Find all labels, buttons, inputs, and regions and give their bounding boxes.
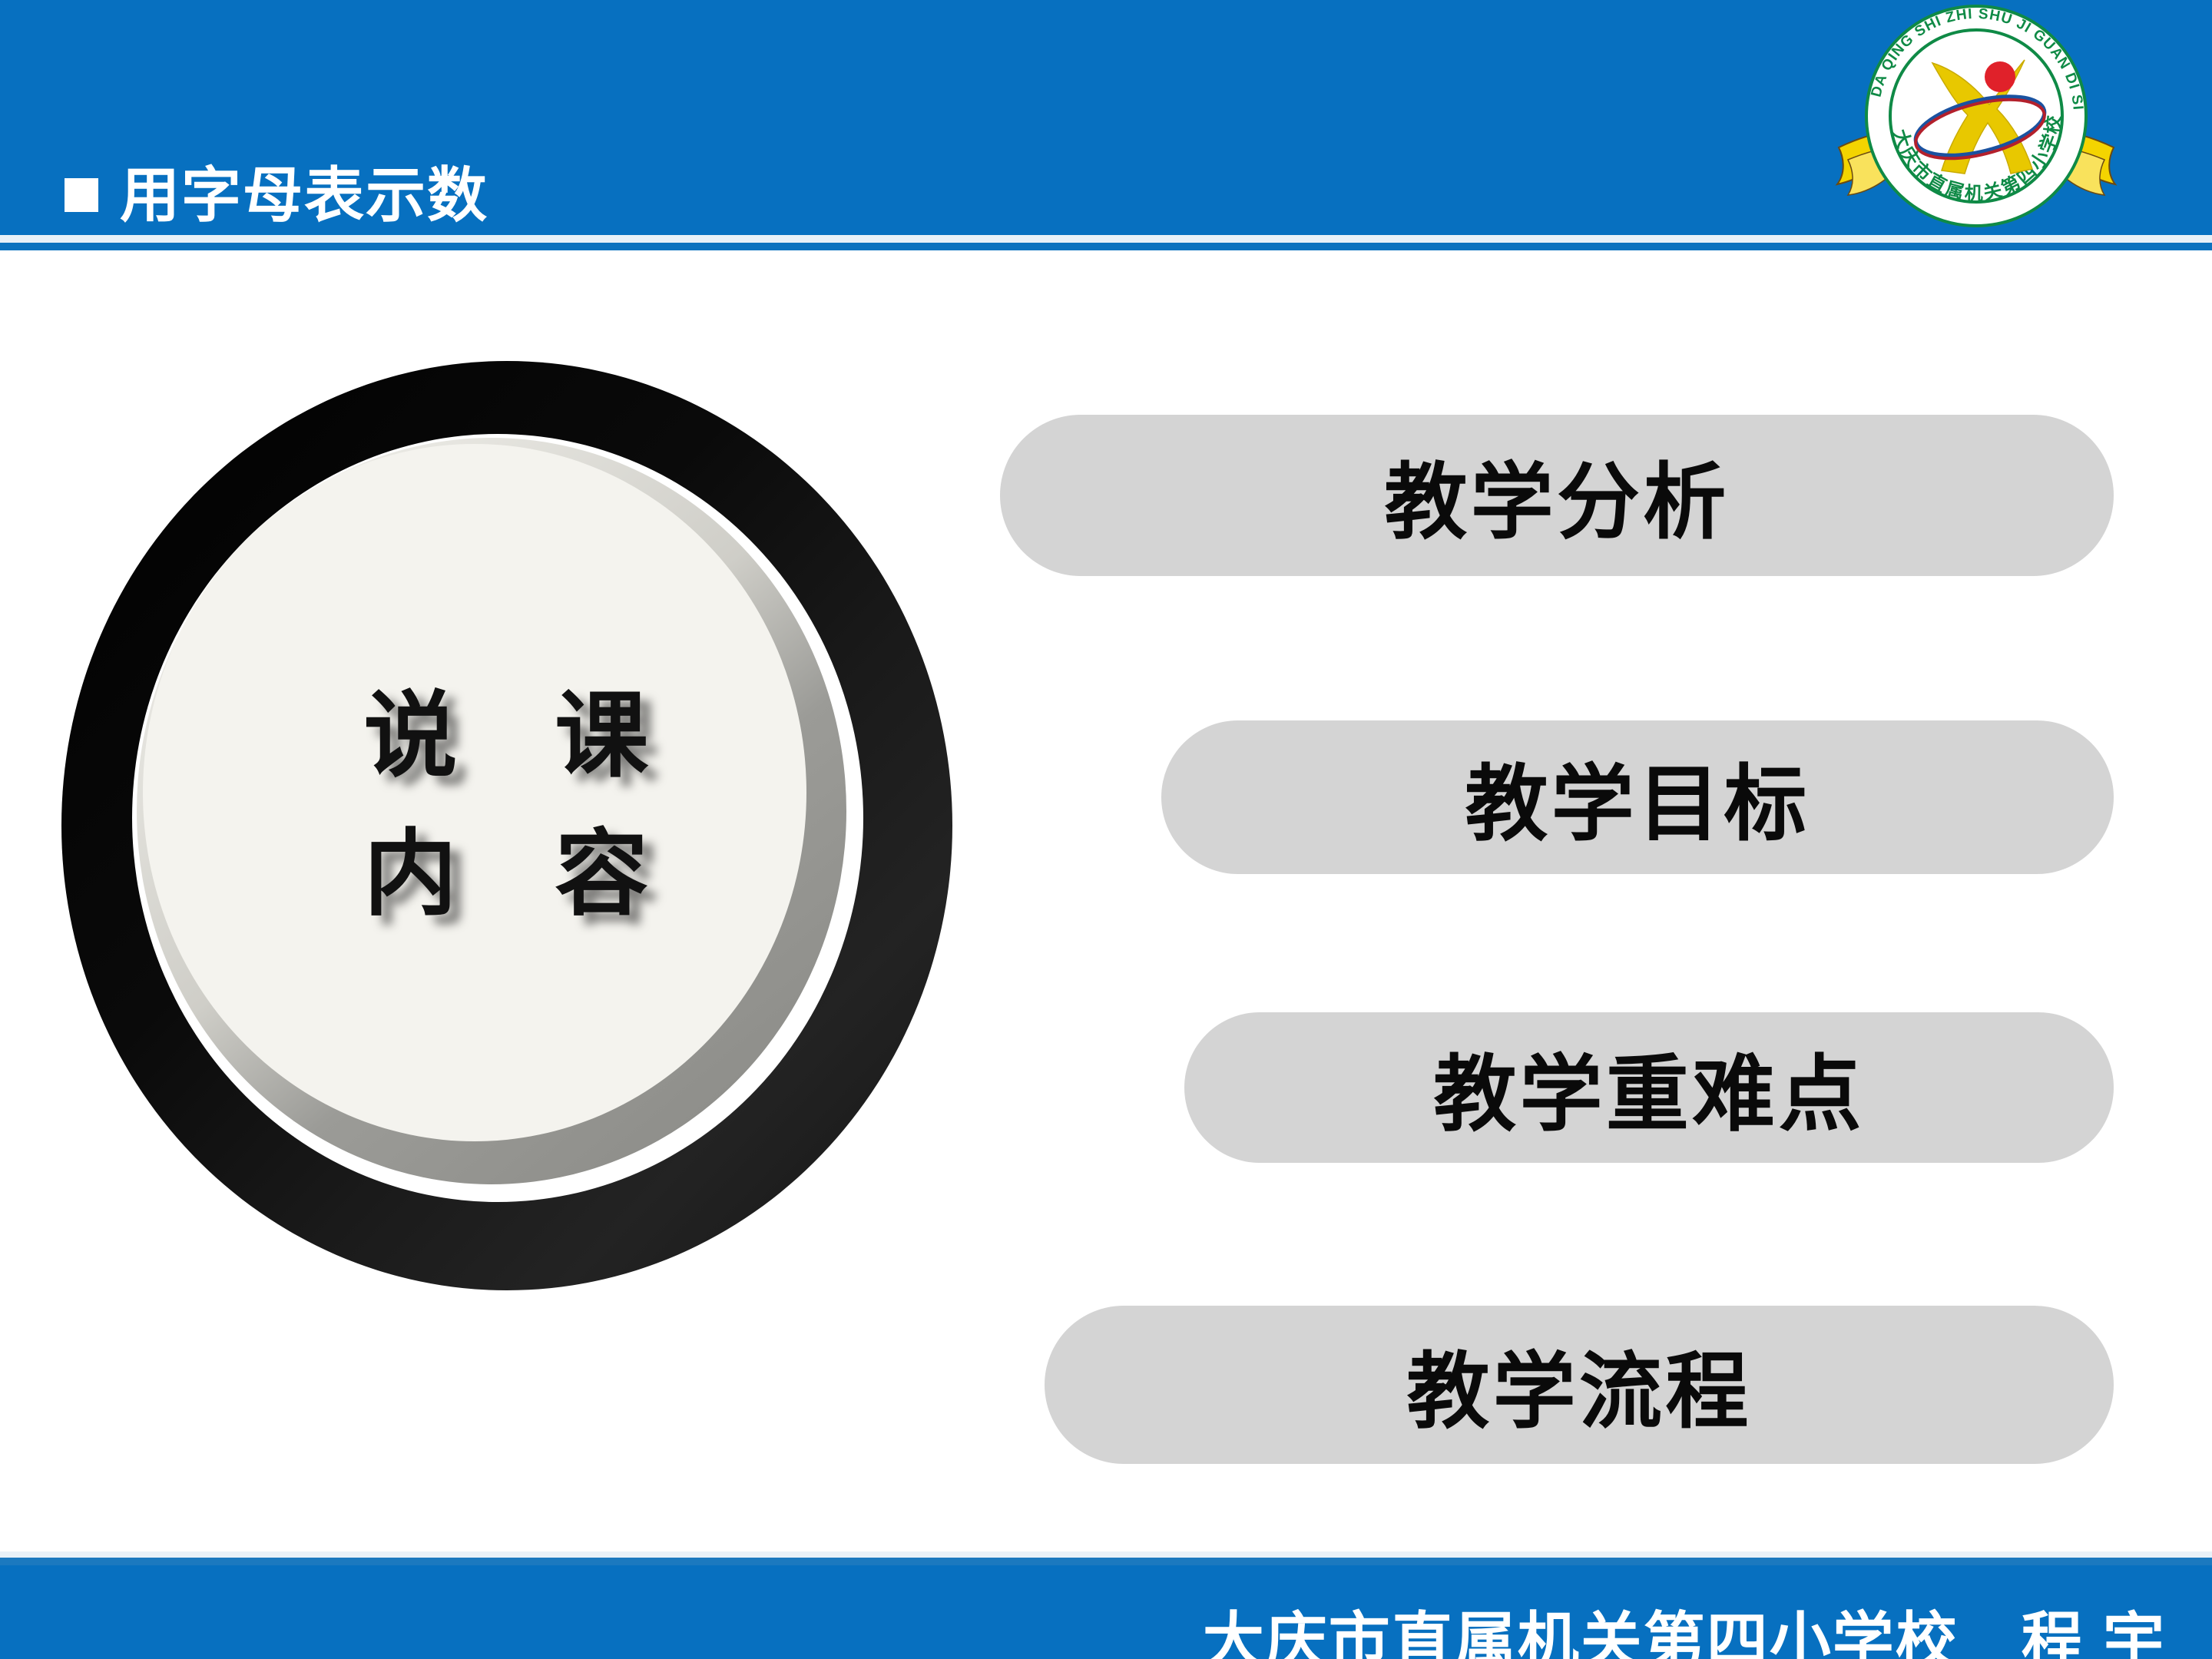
square-bullet-icon [65,178,98,212]
circle-inner-disc [143,444,806,1141]
pill-teaching-objectives[interactable]: 教学目标 [1161,720,2114,874]
header-title-group: 用字母表示数 [65,164,488,227]
footer-accent-light-stripe [0,1551,2212,1558]
seal-red-dot [1985,61,2015,92]
school-seal-logo: DA QING SHI ZHI SHU JI GUAN DI SI XIAO X… [1834,0,2118,243]
slide-canvas: 用字母表示数 DA QING SHI ZHI SHU JI GUAN DI SI… [0,0,2212,1659]
page-title: 用字母表示数 [120,164,488,227]
pill-teaching-process[interactable]: 教学流程 [1045,1306,2114,1464]
pill-label: 教学重难点 [1433,1028,1865,1147]
pill-label: 教学分析 [1384,435,1729,555]
pill-label: 教学目标 [1465,737,1810,857]
footer-accent-blue-line [0,1558,2212,1565]
header-accent-blue-line [0,243,2212,250]
speech-content-circle: 说 课 内 容 [46,346,968,1306]
footer-band: 大庆市直属机关第四小学校 程 宇 [0,1565,2212,1659]
pill-key-difficult-points[interactable]: 教学重难点 [1184,1012,2114,1163]
pill-teaching-analysis[interactable]: 教学分析 [1000,415,2114,576]
pill-label: 教学流程 [1406,1325,1751,1445]
footer-credit: 大庆市直属机关第四小学校 程 宇 [0,1608,2212,1659]
